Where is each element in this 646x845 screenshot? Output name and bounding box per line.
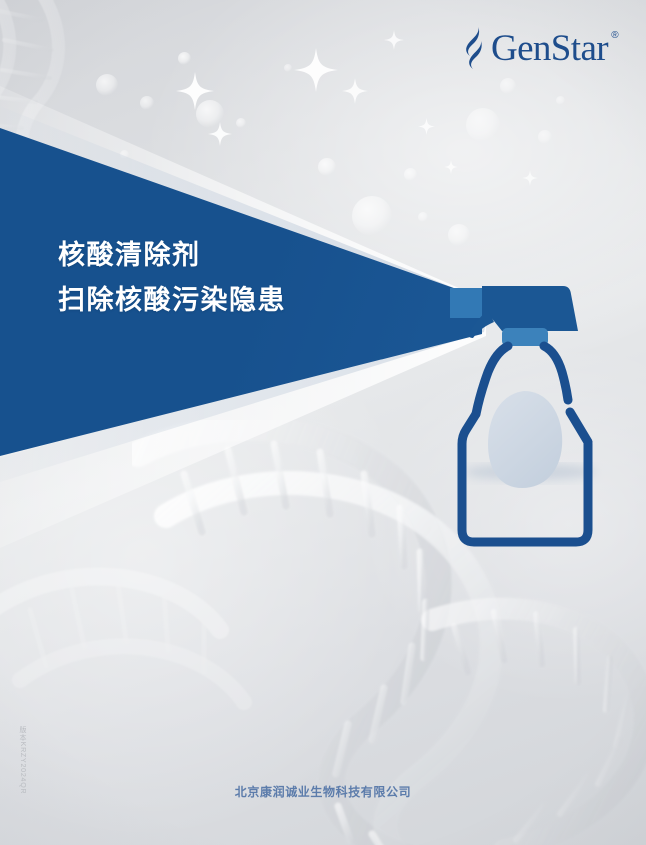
flame-icon xyxy=(458,26,488,70)
bottle-body-right-edge xyxy=(570,412,588,442)
spray-bottle-icon xyxy=(440,276,615,566)
page-title: 核酸清除剂 扫除核酸污染隐患 xyxy=(58,233,398,323)
registered-trademark-icon: ® xyxy=(611,31,618,41)
footer-company-name: 北京康润诚业生物科技有限公司 xyxy=(0,783,646,800)
title-line-1: 核酸清除剂 xyxy=(58,233,398,278)
bottle-neck-right xyxy=(544,346,568,400)
trigger-body xyxy=(482,286,578,331)
genstar-logo: GenStar ® xyxy=(458,26,608,70)
logo-wordmark-text: GenStar xyxy=(491,28,608,69)
bottle-liquid xyxy=(488,391,562,488)
cover-page: 核酸清除剂 扫除核酸污染隐患 GenStar ® xyxy=(0,0,646,845)
logo-wordmark: GenStar ® xyxy=(491,30,608,67)
document-code: 版本KRZY2024QR xyxy=(17,726,27,794)
title-line-2: 扫除核酸污染隐患 xyxy=(58,278,398,323)
